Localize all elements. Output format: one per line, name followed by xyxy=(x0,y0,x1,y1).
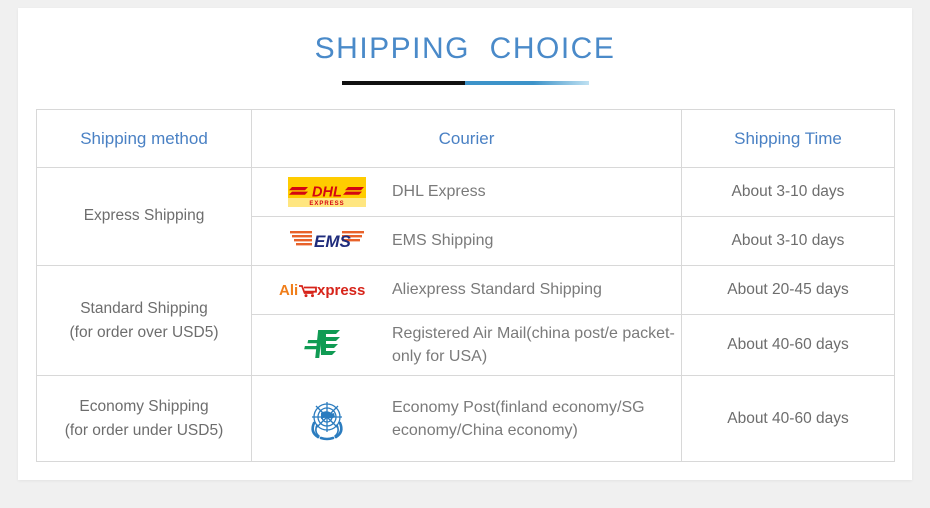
method-standard-shipping: Standard Shipping (for order over USD5) xyxy=(37,266,252,376)
courier-cell-china-post: Registered Air Mail(china post/e packet-… xyxy=(252,315,682,376)
shipping-time: About 40-60 days xyxy=(682,376,895,462)
header-shipping-time: Shipping Time xyxy=(682,110,895,168)
china-post-logo xyxy=(272,322,382,368)
courier-name: DHL Express xyxy=(382,180,486,203)
shipping-table-wrap: Shipping method Courier Shipping Time Ex… xyxy=(36,109,894,462)
method-economy-shipping: Economy Shipping (for order under USD5) xyxy=(37,376,252,462)
svg-text:EXPRESS: EXPRESS xyxy=(309,201,344,207)
title-underline xyxy=(342,81,589,85)
shipping-time: About 3-10 days xyxy=(682,168,895,217)
courier-name: EMS Shipping xyxy=(382,229,493,252)
dhl-logo: DHL EXPRESS xyxy=(272,177,382,207)
header-shipping-method: Shipping method xyxy=(37,110,252,168)
method-express-shipping: Express Shipping xyxy=(37,168,252,266)
aliexpress-logo: Ali xpress xyxy=(272,279,382,301)
page-title: SHIPPING CHOICE xyxy=(18,34,912,64)
courier-cell-aliexpress: Ali xpress Aliexpr xyxy=(252,266,682,315)
courier-name: Registered Air Mail(china post/e packet-… xyxy=(382,322,681,368)
title-underline-right xyxy=(465,81,589,85)
shipping-time: About 40-60 days xyxy=(682,315,895,376)
ems-logo: EMS xyxy=(272,227,382,255)
courier-cell-dhl: DHL EXPRESS DHL Express xyxy=(252,168,682,217)
courier-cell-ems: EMS EMS Shipping xyxy=(252,217,682,266)
shipping-time: About 3-10 days xyxy=(682,217,895,266)
method-label: Express Shipping xyxy=(45,204,243,228)
header-courier: Courier xyxy=(252,110,682,168)
shipping-info-card: SHIPPING CHOICE Shipping method Courier … xyxy=(18,8,912,480)
un-economy-post-logo xyxy=(272,393,382,445)
table-row: Express Shipping DHL xyxy=(37,168,895,217)
table-header-row: Shipping method Courier Shipping Time xyxy=(37,110,895,168)
table-row: Economy Shipping (for order under USD5) xyxy=(37,376,895,462)
courier-name: Economy Post(finland economy/SG economy/… xyxy=(382,396,681,442)
title-underline-left xyxy=(342,81,466,85)
table-row: Standard Shipping (for order over USD5) … xyxy=(37,266,895,315)
method-note: (for order under USD5) xyxy=(45,419,243,443)
svg-text:EMS: EMS xyxy=(314,232,352,251)
svg-text:Ali: Ali xyxy=(279,282,298,299)
svg-text:xpress: xpress xyxy=(317,282,365,299)
method-note: (for order over USD5) xyxy=(45,321,243,345)
method-label: Economy Shipping xyxy=(45,395,243,419)
method-label: Standard Shipping xyxy=(45,297,243,321)
shipping-table: Shipping method Courier Shipping Time Ex… xyxy=(36,109,895,462)
shipping-time: About 20-45 days xyxy=(682,266,895,315)
courier-cell-economy-post: Economy Post(finland economy/SG economy/… xyxy=(252,376,682,462)
courier-name: Aliexpress Standard Shipping xyxy=(382,278,602,301)
title-block: SHIPPING CHOICE xyxy=(18,8,912,85)
